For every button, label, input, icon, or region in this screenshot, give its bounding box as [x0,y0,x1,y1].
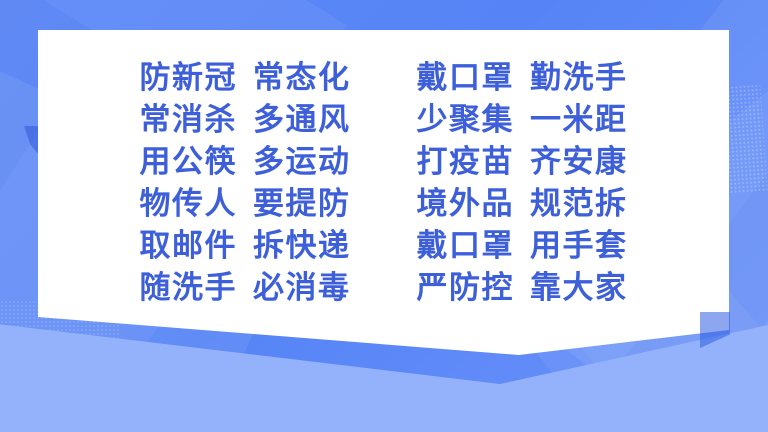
slogan-phrase-first: 戴口罩 [417,227,515,265]
slogan-phrase-second: 常态化 [253,59,351,97]
slogan-phrase-first: 打疫苗 [417,143,515,181]
slogan-phrase-first: 境外品 [417,185,515,223]
slogan-phrase-second: 必消毒 [253,269,351,307]
slogan-phrase-first: 取邮件 [140,227,238,265]
slogan-line: 戴口罩 勤洗手 [417,59,628,97]
slogan-line: 防新冠 常态化 [140,59,351,97]
slogan-column-right: 戴口罩 勤洗手 少聚集 一米距 打疫苗 齐安康 境外品 规范拆 戴口罩 用手套 … [417,59,628,307]
slogan-line: 少聚集 一米距 [417,101,628,139]
slogan-phrase-first: 戴口罩 [417,59,515,97]
slogan-line: 常消杀 多通风 [140,101,351,139]
slogan-phrase-first: 少聚集 [417,101,515,139]
slogan-phrase-second: 规范拆 [530,185,628,223]
slogan-phrase-second: 齐安康 [530,143,628,181]
slogan-phrase-second: 靠大家 [530,269,628,307]
slogan-line: 境外品 规范拆 [417,185,628,223]
slogan-line: 随洗手 必消毒 [140,269,351,307]
slogan-line: 打疫苗 齐安康 [417,143,628,181]
slogan-phrase-second: 勤洗手 [530,59,628,97]
slogan-phrase-second: 多运动 [253,143,351,181]
slogan-phrase-first: 用公筷 [140,143,238,181]
slogan-phrase-first: 随洗手 [140,269,238,307]
slogan-phrase-second: 拆快递 [253,227,351,265]
slogan-phrase-second: 多通风 [253,101,351,139]
slogan-phrase-first: 常消杀 [140,101,238,139]
slogan-phrase-second: 用手套 [530,227,628,265]
slogan-phrase-second: 一米距 [530,101,628,139]
slogan-line: 戴口罩 用手套 [417,227,628,265]
poster-canvas: 防新冠 常态化 常消杀 多通风 用公筷 多运动 物传人 要提防 取邮件 拆快递 … [0,0,768,432]
slogan-column-left: 防新冠 常态化 常消杀 多通风 用公筷 多运动 物传人 要提防 取邮件 拆快递 … [140,59,351,307]
slogan-phrase-first: 防新冠 [140,59,238,97]
slogan-line: 用公筷 多运动 [140,143,351,181]
slogan-phrase-first: 物传人 [140,185,238,223]
slogan-phrase-second: 要提防 [253,185,351,223]
slogan-phrase-first: 严防控 [417,269,515,307]
slogan-line: 物传人 要提防 [140,185,351,223]
slogan-line: 严防控 靠大家 [417,269,628,307]
slogan-grid: 防新冠 常态化 常消杀 多通风 用公筷 多运动 物传人 要提防 取邮件 拆快递 … [38,30,729,330]
slogan-line: 取邮件 拆快递 [140,227,351,265]
